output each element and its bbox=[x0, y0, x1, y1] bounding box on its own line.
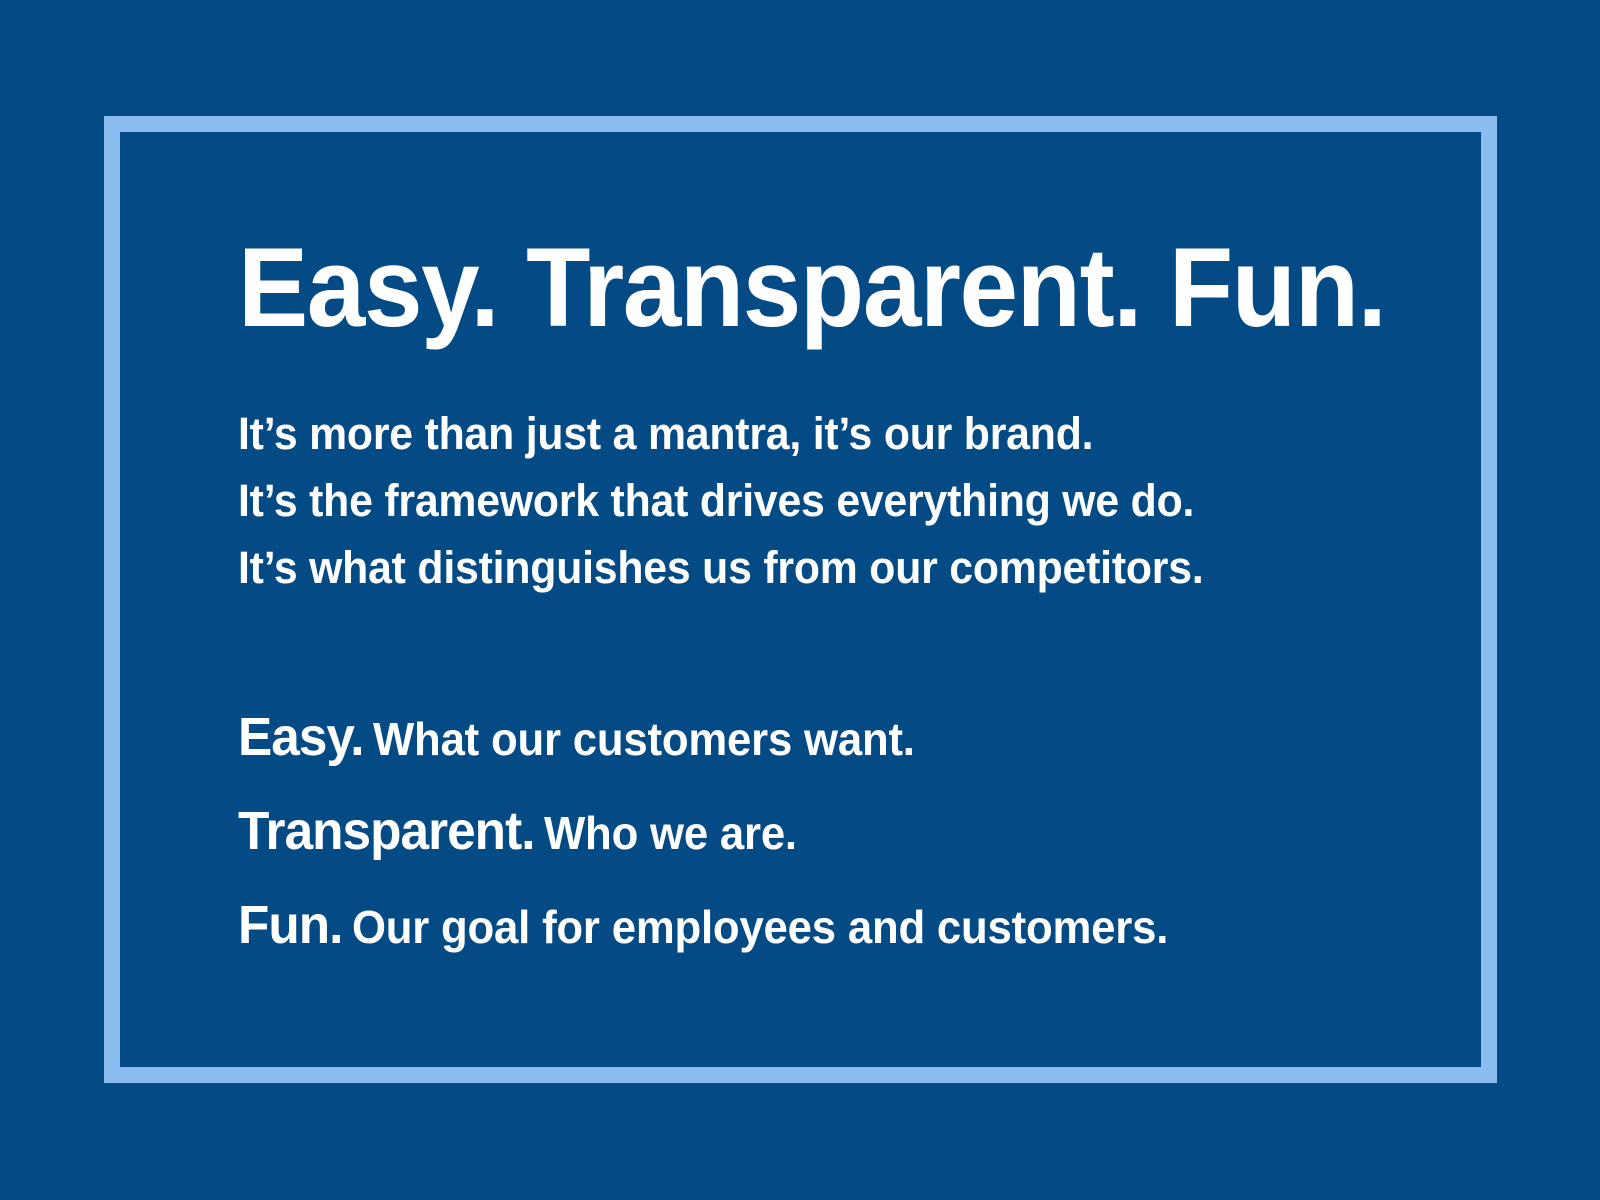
definition-description: Our goal for employees and customers. bbox=[342, 901, 1168, 953]
intro-line: It’s more than just a mantra, it’s our b… bbox=[238, 400, 1359, 467]
definition-item: Easy.What our customers want. bbox=[238, 697, 1359, 791]
definition-term: Fun. bbox=[238, 895, 342, 955]
slide-canvas: Easy. Transparent. Fun. It’s more than j… bbox=[0, 0, 1600, 1200]
definition-item: Transparent.Who we are. bbox=[238, 791, 1359, 885]
definition-list: Easy.What our customers want. Transparen… bbox=[238, 601, 1418, 979]
intro-paragraph: It’s more than just a mantra, it’s our b… bbox=[238, 344, 1418, 601]
intro-line: It’s the framework that drives everythin… bbox=[238, 467, 1359, 534]
definition-term: Transparent. bbox=[238, 801, 535, 861]
definition-term: Easy. bbox=[238, 707, 364, 767]
intro-line: It’s what distinguishes us from our comp… bbox=[238, 534, 1359, 601]
content-block: Easy. Transparent. Fun. It’s more than j… bbox=[238, 232, 1418, 979]
page-title: Easy. Transparent. Fun. bbox=[238, 232, 1347, 344]
definition-item: Fun.Our goal for employees and customers… bbox=[238, 885, 1359, 979]
definition-description: What our customers want. bbox=[364, 713, 915, 765]
definition-description: Who we are. bbox=[535, 807, 797, 859]
